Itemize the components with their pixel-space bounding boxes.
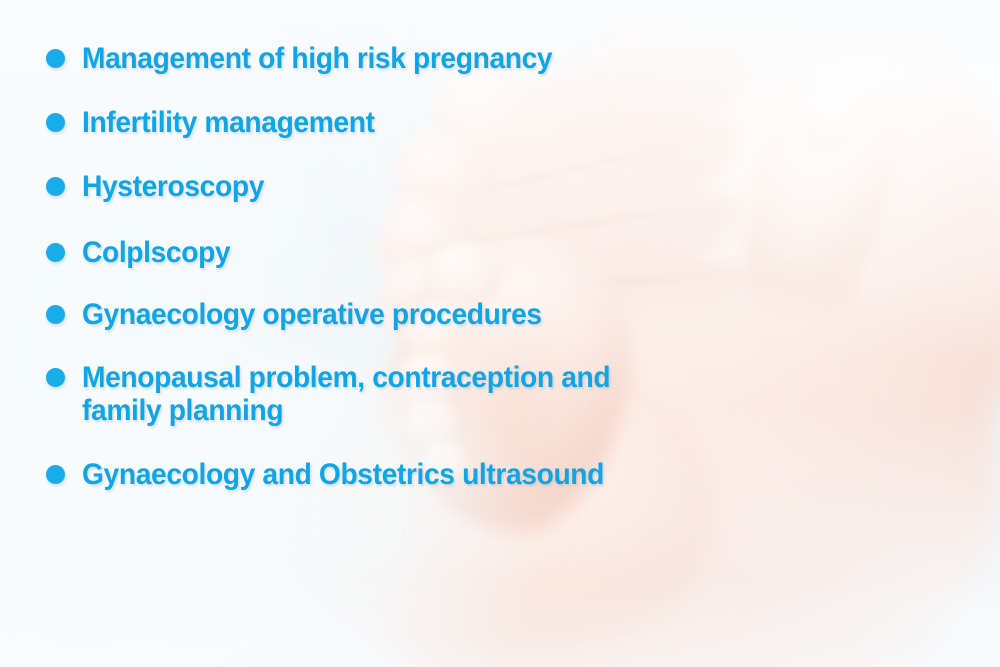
service-item-label: Infertility management [82,106,375,139]
service-item-label: Hysteroscopy [82,170,264,203]
bullet-dot-icon [46,368,65,387]
bullet-dot-icon [46,49,65,68]
service-item-label: Menopausal problem, contraception and fa… [82,361,610,427]
service-item-label: Gynaecology and Obstetrics ultrasound [82,458,604,491]
bullet-dot-icon [46,305,65,324]
service-list-item: Colplscopy [46,236,240,269]
service-item-label: Colplscopy [82,236,230,269]
service-list-item: Management of high risk pregnancy [46,42,582,75]
bullet-dot-icon [46,465,65,484]
service-list-item: Gynaecology operative procedures [46,298,571,331]
services-banner: Management of high risk pregnancy Infert… [0,0,1000,667]
bottom-fade [0,577,1000,667]
bullet-dot-icon [46,113,65,132]
service-item-label: Management of high risk pregnancy [82,42,552,75]
service-list-item: Menopausal problem, contraception and fa… [46,361,644,427]
service-list-item: Gynaecology and Obstetrics ultrasound [46,458,637,491]
service-item-label: Gynaecology operative procedures [82,298,542,331]
bullet-dot-icon [46,243,65,262]
service-list-item: Infertility management [46,106,393,139]
service-list-item: Hysteroscopy [46,170,276,203]
bullet-dot-icon [46,177,65,196]
hands-holding-baby-feet-photo [0,0,1000,667]
